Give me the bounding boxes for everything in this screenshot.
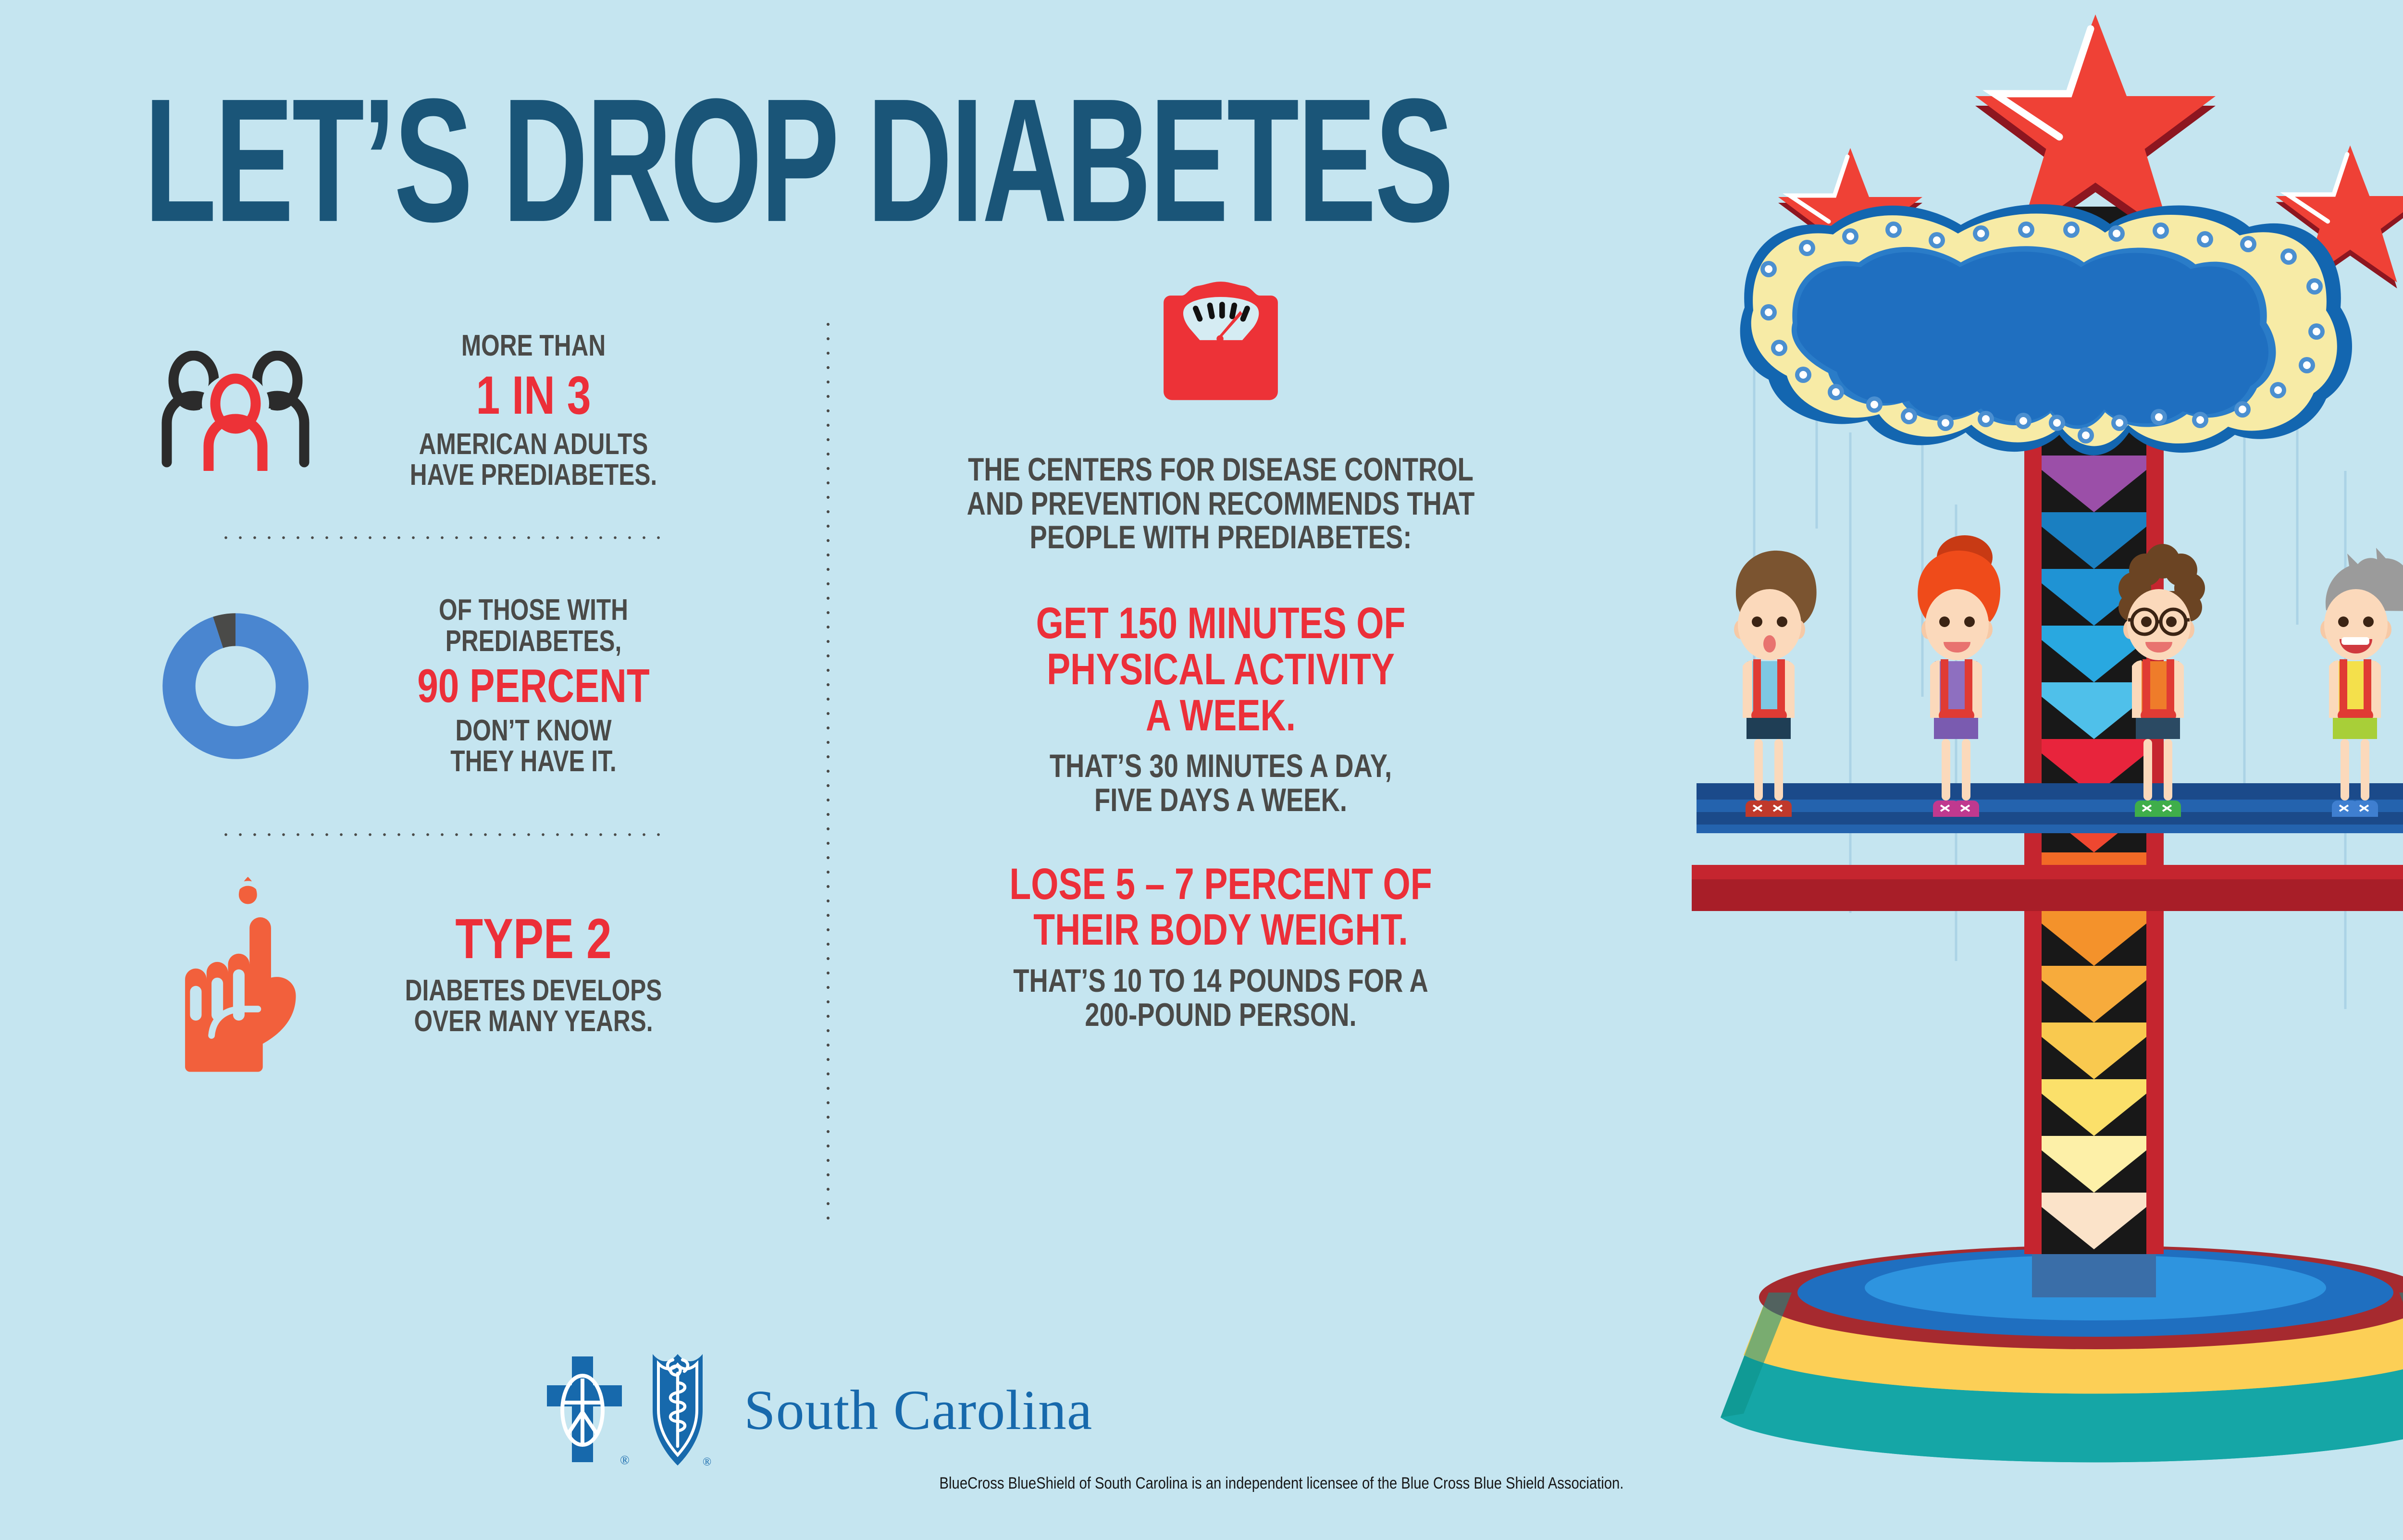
sign-bulb-glow (1890, 226, 1897, 234)
column-divider (826, 317, 830, 1230)
sign-bulb-glow (1905, 412, 1913, 420)
sign-bulb-glow (2285, 253, 2292, 260)
stat-prediabetes-prevalence: MORE THAN 1 IN 3 AMERICAN ADULTS HAVE PR… (144, 298, 740, 524)
sign-bulb-glow (1775, 344, 1783, 352)
rec-1-headline-2: PHYSICAL ACTIVITY (936, 647, 1505, 693)
stat-3-line-4: OVER MANY YEARS. (368, 1006, 699, 1037)
rec-1-subtext-1: THAT’S 30 MINUTES A DAY, (936, 749, 1505, 783)
sign-bulb-glow (2068, 226, 2075, 234)
donut-chart-icon (144, 602, 327, 770)
ride-child (1918, 535, 2000, 817)
rec-2-subtext-2: 200-POUND PERSON. (936, 998, 1505, 1032)
cdc-intro-line-2: AND PREVENTION RECOMMENDS THAT (936, 487, 1505, 521)
rec-1-headline-3: A WEEK. (936, 693, 1505, 739)
stat-3-line-3: DIABETES DEVELOPS (368, 975, 699, 1006)
recommendation-body-weight: LOSE 5 – 7 PERCENT OF THEIR BODY WEIGHT.… (865, 862, 1576, 1032)
sign-bulb-glow (1977, 230, 1985, 237)
finger-blood-drop-icon (144, 870, 327, 1077)
sign-bulb-glow (2311, 283, 2318, 290)
stat-divider-1 (214, 535, 670, 540)
ride-base (1721, 1240, 2403, 1462)
sign-bulb-glow (1933, 236, 1941, 244)
blue-cross-icon: ® (543, 1353, 634, 1468)
stat-2-highlight: 90 PERCENT (368, 662, 699, 711)
stat-2-text: OF THOSE WITH PREDIABETES, 90 PERCENT DO… (327, 595, 740, 777)
sign-bulb-glow (2239, 406, 2246, 413)
recommendation-physical-activity: GET 150 MINUTES OF PHYSICAL ACTIVITY A W… (865, 601, 1576, 817)
stat-1-line-3: AMERICAN ADULTS (368, 429, 699, 460)
ride-child (1734, 551, 1817, 817)
sign-bulb-glow (2022, 226, 2030, 234)
stat-1-line-1: MORE THAN (368, 331, 699, 361)
stat-1-line-4: HAVE PREDIABETES. (368, 460, 699, 491)
rec-2-headline-1: LOSE 5 – 7 PERCENT OF (936, 862, 1505, 908)
sign-bulb-glow (1846, 233, 1854, 240)
page-title: LET’S DROP DIABETES (144, 72, 1452, 248)
sign-bulb-glow (2155, 413, 2163, 421)
sign-bulb-glow (1765, 308, 1772, 316)
sign-bulb-glow (2019, 417, 2027, 425)
blue-shield-caduceus-icon: ® (647, 1350, 719, 1470)
rec-1-subtext-2: FIVE DAYS A WEEK. (936, 783, 1505, 817)
ride-child (2320, 548, 2403, 817)
bcbs-sc-logo: ® ® South Carolina (543, 1350, 1092, 1470)
stat-type-2-development: TYPE 2 DIABETES DEVELOPS OVER MANY YEARS… (144, 849, 740, 1098)
rec-1-headline-1: GET 150 MINUTES OF (936, 601, 1505, 647)
sign-bulb-glow (2196, 416, 2204, 424)
stat-1-highlight: 1 IN 3 (368, 368, 699, 423)
carnival-sign (1740, 14, 2403, 456)
bathroom-scale-icon (865, 269, 1576, 408)
drop-tower-illustration (1624, 0, 2403, 1538)
sign-bulb-glow (2274, 386, 2282, 394)
logo-name: South Carolina (744, 1378, 1092, 1443)
cdc-intro-text: THE CENTERS FOR DISEASE CONTROL AND PREV… (865, 453, 1576, 554)
stat-unaware-percentage: OF THOSE WITH PREDIABETES, 90 PERCENT DO… (144, 552, 740, 821)
cdc-intro-line-1: THE CENTERS FOR DISEASE CONTROL (936, 453, 1505, 487)
sign-bulb-glow (1870, 401, 1878, 408)
stat-2-line-4: THEY HAVE IT. (368, 746, 699, 777)
stat-3-highlight: TYPE 2 (368, 910, 699, 969)
cdc-intro-line-3: PEOPLE WITH PREDIABETES: (936, 520, 1505, 554)
rec-2-headline-2: THEIR BODY WEIGHT. (936, 907, 1505, 953)
sign-bulb-glow (2157, 227, 2165, 234)
sign-bulb-glow (2113, 230, 2120, 237)
sign-bulb-glow (1982, 415, 1990, 423)
sign-inner-core (1797, 252, 2268, 426)
sign-bulb-glow (1803, 244, 1811, 252)
rec-2-subtext-1: THAT’S 10 TO 14 POUNDS FOR A (936, 964, 1505, 998)
infographic-canvas: LET’S DROP DIABETES (0, 0, 2403, 1538)
sign-bulb-glow (2116, 419, 2123, 427)
three-people-icon (144, 351, 327, 471)
stat-3-text: TYPE 2 DIABETES DEVELOPS OVER MANY YEARS… (327, 910, 740, 1037)
sign-bulb-glow (2244, 240, 2252, 248)
stat-2-line-1: OF THOSE WITH (368, 595, 699, 626)
sign-bulb-glow (1942, 419, 1949, 427)
stat-1-text: MORE THAN 1 IN 3 AMERICAN ADULTS HAVE PR… (327, 331, 740, 491)
stat-2-line-2: PREDIABETES, (368, 626, 699, 657)
left-stats-column: MORE THAN 1 IN 3 AMERICAN ADULTS HAVE PR… (144, 298, 740, 1098)
sign-bulb-glow (2201, 235, 2209, 243)
sign-bulb-glow (1799, 371, 1807, 379)
stat-2-line-3: DON’T KNOW (368, 715, 699, 746)
sign-bulb-glow (2313, 328, 2320, 335)
stat-divider-2 (214, 832, 670, 837)
sign-bulb-glow (2303, 361, 2311, 369)
center-recommendations-column: THE CENTERS FOR DISEASE CONTROL AND PREV… (865, 269, 1576, 1032)
sign-bulb-glow (2053, 419, 2061, 427)
registered-mark-shield: ® (703, 1456, 711, 1468)
sign-bulb-glow (1832, 388, 1840, 396)
registered-mark-cross: ® (620, 1453, 630, 1467)
sign-bulb-glow (1765, 265, 1772, 273)
sign-bulb-glow (2082, 431, 2090, 439)
